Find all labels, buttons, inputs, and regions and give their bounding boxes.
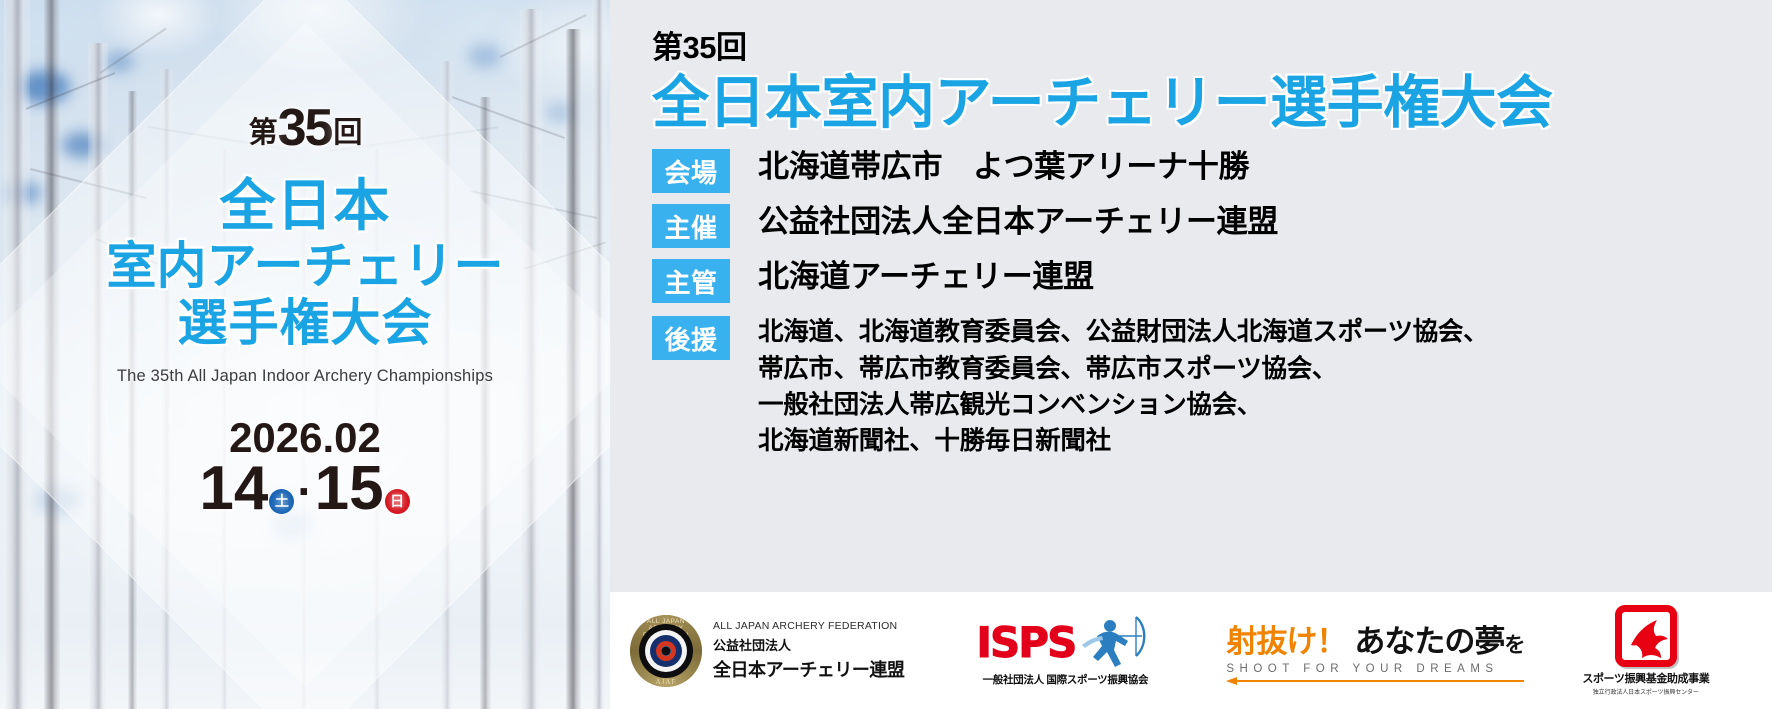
info-row-venue: 会場 北海道帯広市 よつ葉アリーナ十勝 [652,149,1772,193]
poster-title-line-1: 全日本 [107,176,504,236]
ajaf-name-japanese: 全日本アーチェリー連盟 [713,656,904,682]
saturday-badge: 土 [269,489,294,514]
seal-bottom-text: AJAF [630,678,702,686]
supporters-line-3: 一般社団法人帯広観光コンベンション協会、 [758,387,1488,423]
poster-title-line-3: 選手権大会 [107,297,504,351]
isps-wordmark: ISPS [976,618,1075,667]
ajaf-text-block: ALL JAPAN ARCHERY FEDERATION 公益社団法人 全日本ア… [713,620,904,682]
info-content: 第35回 全日本室内アーチェリー選手権大会 会場 北海道帯広市 よつ葉アリーナ十… [610,0,1772,592]
sunday-badge: 日 [385,489,410,514]
shoot-slogan-english: SHOOT FOR YOUR DREAMS [1226,663,1524,675]
poster-day-2: 15 [315,458,384,520]
supporters-value: 北海道、北海道教育委員会、公益財団法人北海道スポーツ協会、 帯広市、帯広市教育委… [758,314,1488,459]
poster-panel: 第 35 回 全日本 室内アーチェリー 選手権大会 The 35th All J… [0,0,610,709]
poster-subtitle-english: The 35th All Japan Indoor Archery Champi… [117,367,493,386]
archery-target-seal-icon: ALL JAPAN ARCHERY FEDERATION AJAF [630,615,702,687]
supporters-tag: 後援 [652,316,730,360]
fund-caption: スポーツ振興基金助成事業 [1582,670,1709,686]
footer-logo-strip: ALL JAPAN ARCHERY FEDERATION AJAF ALL JA… [610,592,1772,709]
shoot-slogan-black: あなたの夢を [1354,616,1524,661]
supporters-line-1: 北海道、北海道教育委員会、公益財団法人北海道スポーツ協会、 [758,314,1488,350]
venue-tag: 会場 [652,149,730,193]
logo-sports-promotion-fund: スポーツ振興基金助成事業 独立行政法人日本スポーツ振興センター [1582,605,1709,696]
isps-caption: 一般社団法人 国際スポーツ振興協会 [976,672,1154,687]
poster-edition-number: 35 [278,98,332,158]
poster-edition: 第 35 回 [249,98,362,158]
info-row-supporters: 後援 北海道、北海道教育委員会、公益財団法人北海道スポーツ協会、 帯広市、帯広市… [652,314,1772,459]
poster-title: 全日本 室内アーチェリー 選手権大会 [107,176,504,351]
ajaf-corporate-form: 公益社団法人 [713,635,904,654]
supporters-line-2: 帯広市、帯広市教育委員会、帯広市スポーツ協会、 [758,351,1488,387]
venue-value: 北海道帯広市 よつ葉アリーナ十勝 [758,149,1249,186]
logo-shoot-for-your-dreams: 射抜け！ あなたの夢を SHOOT FOR YOUR DREAMS [1226,616,1524,685]
poster-title-line-2: 室内アーチェリー [107,240,504,294]
red-bird-emblem-icon [1615,605,1677,667]
arrow-rule-icon [1226,677,1524,685]
archer-silhouette-icon [1080,614,1154,670]
event-banner: 第 35 回 全日本 室内アーチェリー 選手権大会 The 35th All J… [0,0,1772,709]
poster-day-1: 14 [199,458,268,520]
organizer-tag: 主催 [652,204,730,248]
administrator-value: 北海道アーチェリー連盟 [758,259,1094,296]
logo-all-japan-archery-federation: ALL JAPAN ARCHERY FEDERATION AJAF ALL JA… [630,615,904,687]
poster-content: 第 35 回 全日本 室内アーチェリー 選手権大会 The 35th All J… [0,0,610,709]
poster-date-separator: · [295,468,314,514]
poster-date-days: 14 土 · 15 日 [199,458,410,520]
panel-title: 全日本室内アーチェリー選手権大会 [652,73,1772,133]
info-panel: 第35回 全日本室内アーチェリー選手権大会 会場 北海道帯広市 よつ葉アリーナ十… [610,0,1772,709]
fund-caption-secondary: 独立行政法人日本スポーツ振興センター [1582,687,1709,696]
supporters-line-4: 北海道新聞社、十勝毎日新聞社 [758,423,1488,459]
poster-edition-prefix: 第 [249,109,277,151]
poster-edition-suffix: 回 [333,109,361,151]
isps-mark-row: ISPS [976,614,1154,670]
organizer-value: 公益社団法人全日本アーチェリー連盟 [758,204,1278,241]
ajaf-name-english: ALL JAPAN ARCHERY FEDERATION [713,620,904,632]
info-row-administrator: 主管 北海道アーチェリー連盟 [652,259,1772,303]
info-rows: 会場 北海道帯広市 よつ葉アリーナ十勝 主催 公益社団法人全日本アーチェリー連盟… [652,149,1772,459]
panel-edition: 第35回 [652,22,1772,67]
shoot-slogan-row: 射抜け！ あなたの夢を [1226,616,1524,661]
info-row-organizer: 主催 公益社団法人全日本アーチェリー連盟 [652,204,1772,248]
administrator-tag: 主管 [652,259,730,303]
shoot-slogan-orange: 射抜け！ [1226,616,1346,661]
logo-isps: ISPS 一般社団法人 国際スポーツ振興協会 [976,614,1154,687]
poster-date-block: 2026.02 14 土 · 15 日 [199,414,410,520]
